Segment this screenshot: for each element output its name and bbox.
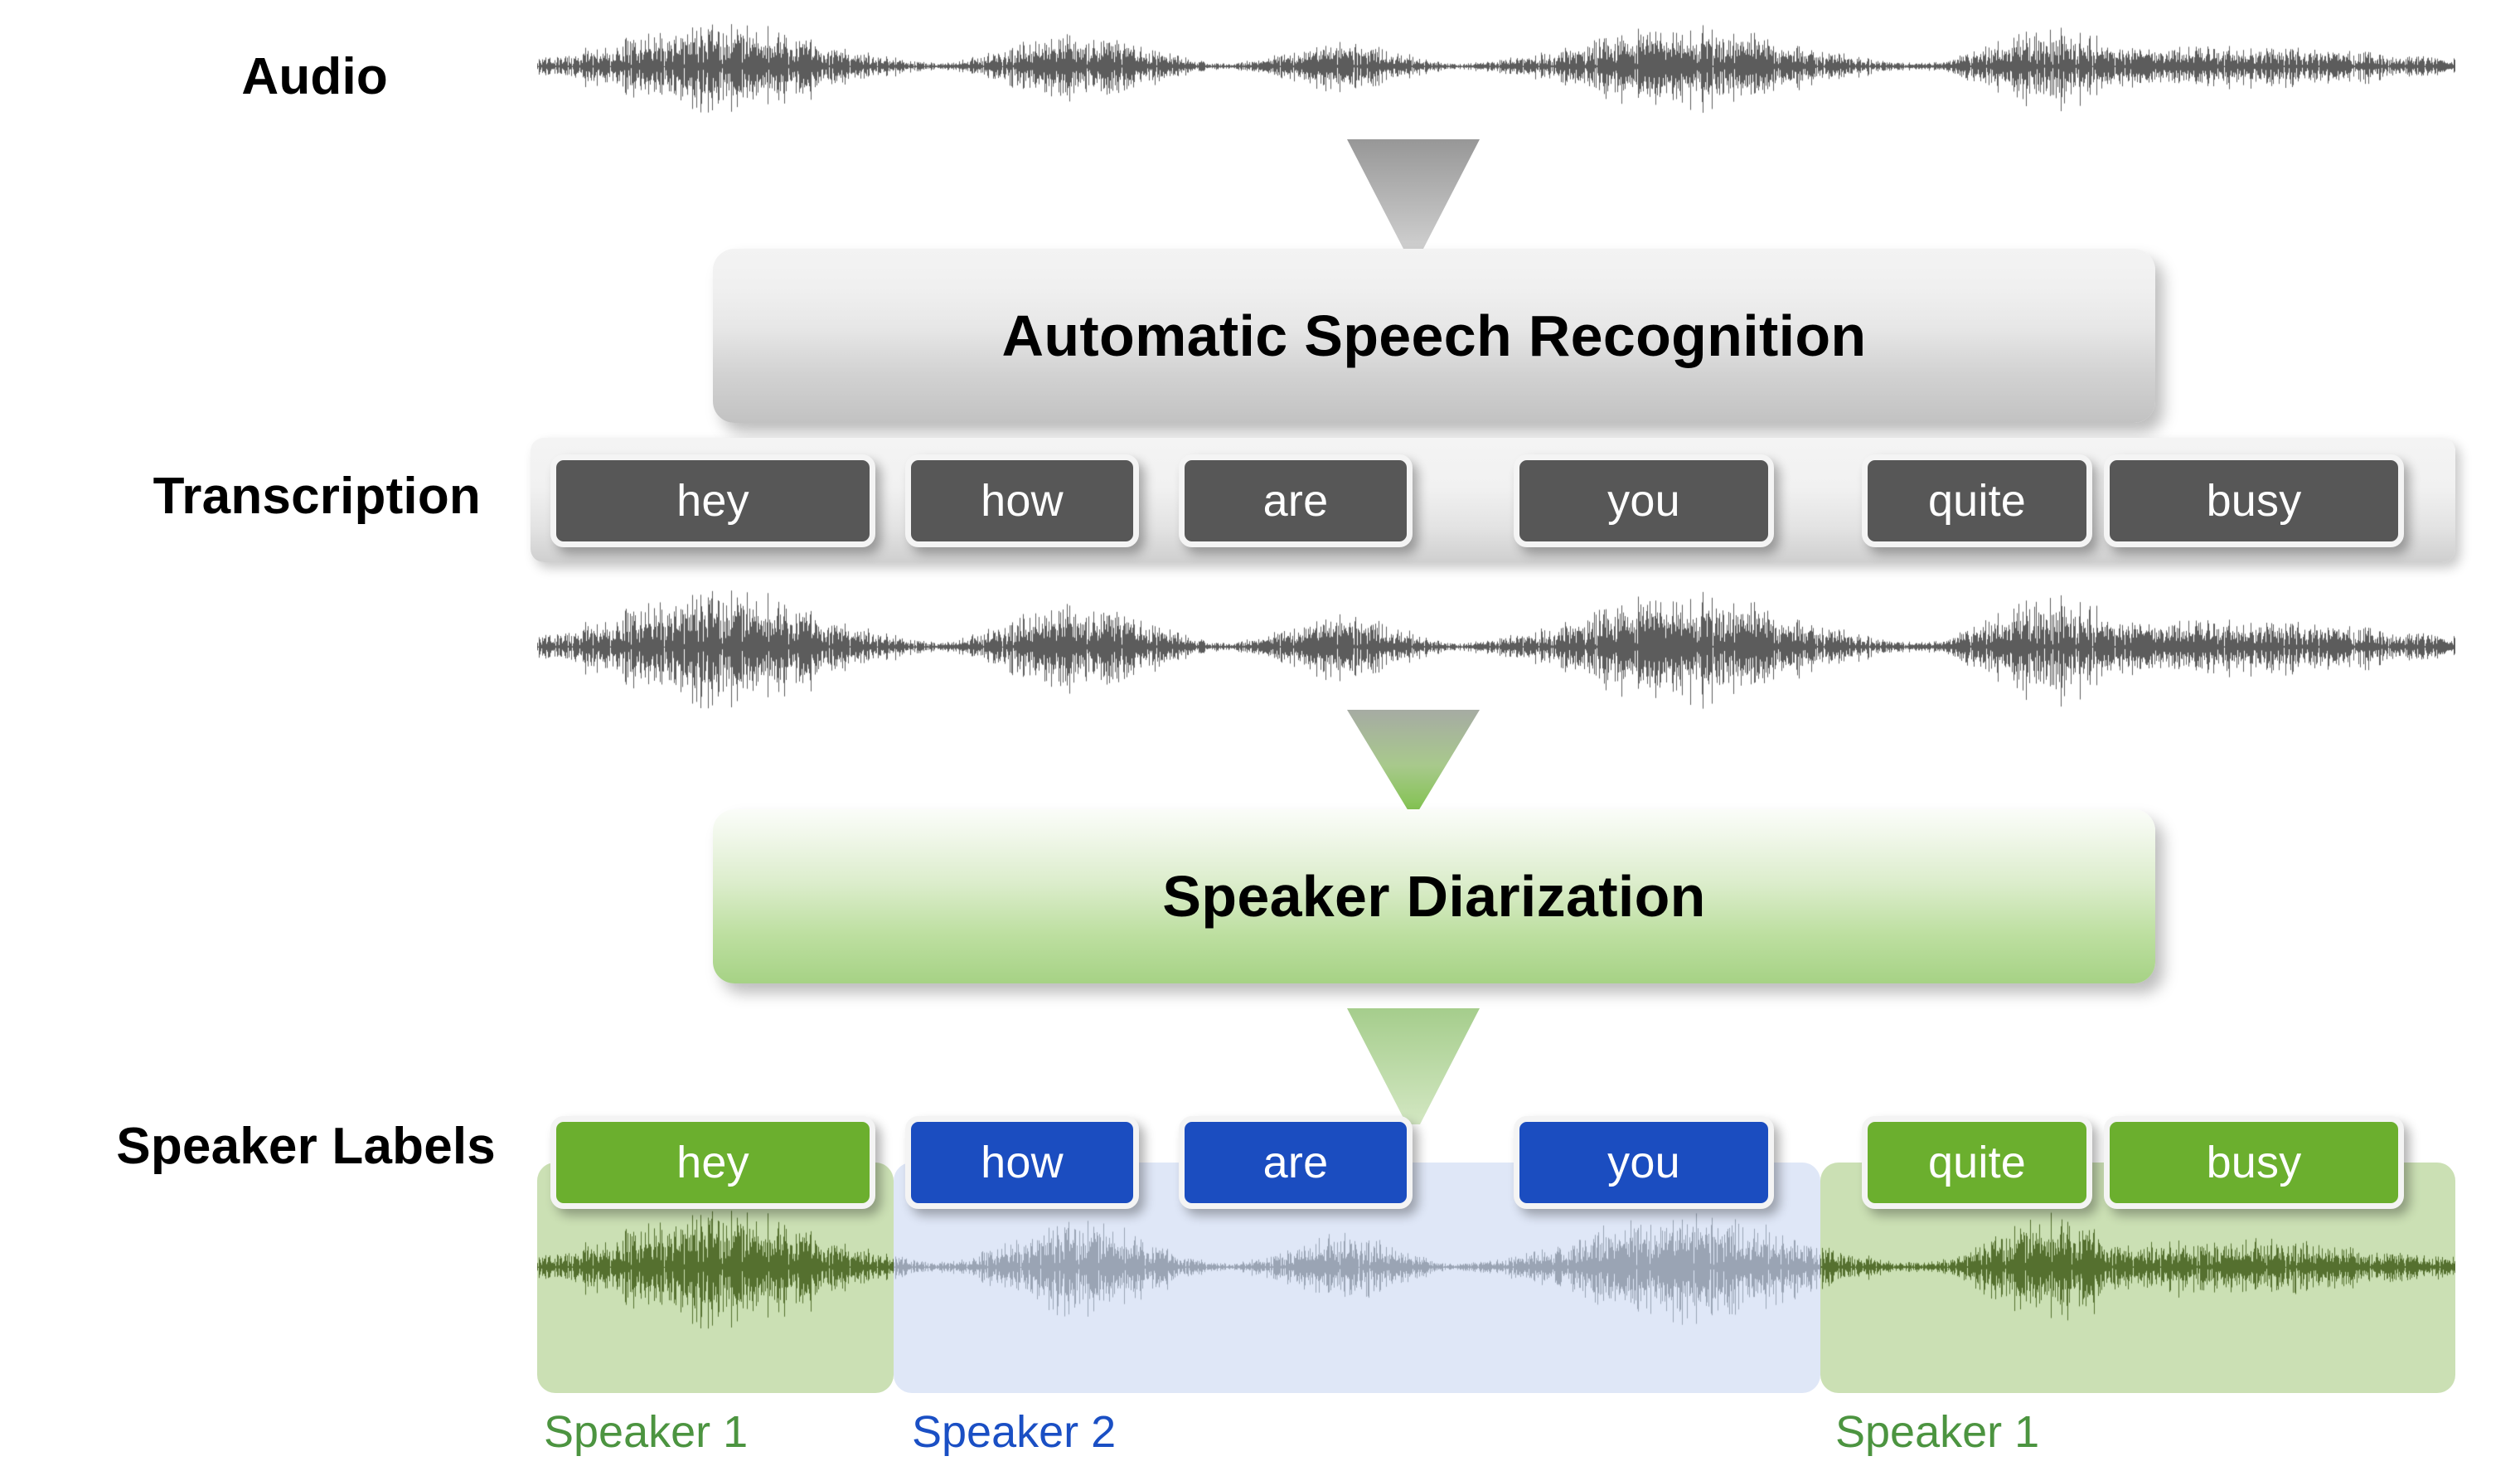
speaker-waveform-segment-3 [1820,1201,2455,1333]
arrow-down-icon-wave-to-diarization [1347,710,1480,811]
transcription-word-hey[interactable]: hey [550,454,875,547]
speaker-waveform-segment-2 [894,1201,1820,1333]
speaker-caption-3: Speaker 1 [1835,1410,2039,1454]
speaker-word-you[interactable]: you [1514,1116,1774,1209]
row-label-audio: Audio [0,51,388,103]
speaker-word-quite[interactable]: quite [1862,1116,2092,1209]
speaker-word-quite-label: quite [1928,1137,2026,1188]
speaker-caption-1: Speaker 1 [544,1410,748,1454]
speaker-waveform-segment-1 [537,1201,894,1333]
row-label-speaker-labels: Speaker Labels [0,1121,496,1172]
speaker-word-you-label: you [1607,1137,1680,1188]
transcription-word-busy[interactable]: busy [2104,454,2404,547]
speaker-word-how-label: how [981,1137,1064,1188]
speaker-word-are-label: are [1263,1137,1329,1188]
process-box-speaker-diarization[interactable]: Speaker Diarization [713,809,2155,983]
transcription-word-you[interactable]: you [1514,454,1774,547]
arrow-down-icon-diarization-to-labels [1347,1008,1480,1124]
speaker-word-are[interactable]: are [1179,1116,1413,1209]
transcription-word-how[interactable]: how [905,454,1139,547]
transcription-word-are[interactable]: are [1179,454,1413,547]
speaker-word-hey-label: hey [676,1137,749,1188]
audio-waveform [537,17,2455,116]
speaker-word-busy-label: busy [2207,1137,2302,1188]
diagram-canvas: Audio Transcription Speaker Labels Autom… [0,0,2520,1466]
process-box-automatic-speech-recognition[interactable]: Automatic Speech Recognition [713,249,2155,423]
transcription-word-are-label: are [1263,475,1329,527]
transcription-word-how-label: how [981,475,1064,527]
row-label-transcription: Transcription [0,471,481,522]
speaker-caption-2: Speaker 2 [912,1410,1116,1454]
speaker-word-busy[interactable]: busy [2104,1116,2404,1209]
transcription-waveform [537,580,2455,713]
transcription-word-quite[interactable]: quite [1862,454,2092,547]
process-box-asr-label: Automatic Speech Recognition [1002,303,1867,369]
transcription-word-quite-label: quite [1928,475,2026,527]
transcription-word-hey-label: hey [676,475,749,527]
arrow-down-icon-audio-to-asr [1347,139,1480,249]
speaker-word-how[interactable]: how [905,1116,1139,1209]
process-box-diarization-label: Speaker Diarization [1162,863,1705,930]
transcription-word-you-label: you [1607,475,1680,527]
speaker-word-hey[interactable]: hey [550,1116,875,1209]
transcription-word-busy-label: busy [2207,475,2302,527]
